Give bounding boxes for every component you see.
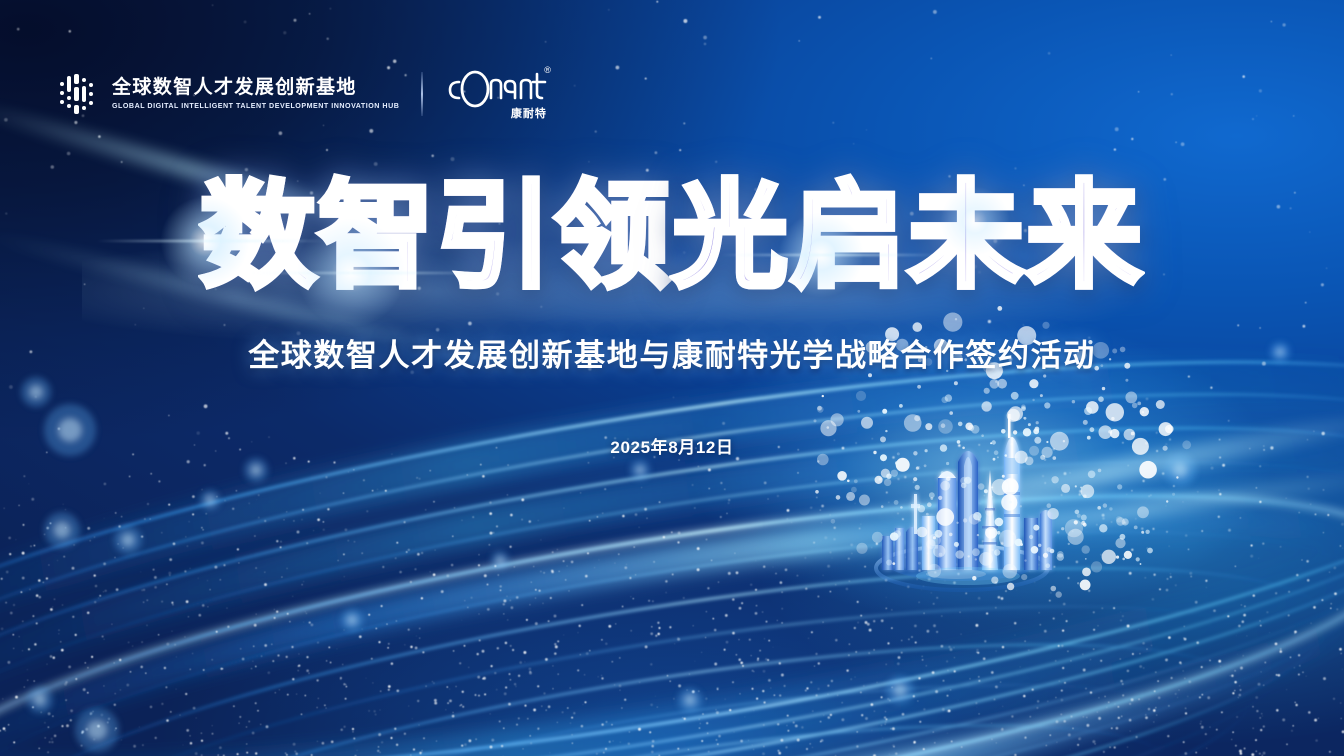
event-meta: 2025年8月12日 中国·深圳 [0,433,1344,458]
hub-name-en: GLOBAL DIGITAL INTELLIGENT TALENT DEVELO… [112,102,399,111]
hero-title-part2: 光启未来 [672,176,1144,298]
hero-subtitle: 全球数智人才发展创新基地与康耐特光学战略合作签约活动 [0,330,1344,375]
city-skyline-illustration [838,396,1088,596]
trademark-icon: ® [544,65,551,75]
logo-divider [421,72,423,116]
event-date: 2025年8月12日 [0,433,1344,458]
hero-title-block: 数智引领光启未来 [0,176,1344,298]
header-lockup: 全球数智人才发展创新基地 GLOBAL DIGITAL INTELLIGENT … [60,68,549,120]
conant-wordmark [445,68,549,108]
hero-title-part1: 数智引领 [200,176,672,298]
city-svg [838,396,1088,596]
conant-logo: ® 康耐特 [445,68,549,120]
conant-name-cn: 康耐特 [511,105,547,121]
hub-logo-text: 全球数智人才发展创新基地 GLOBAL DIGITAL INTELLIGENT … [112,77,399,110]
hub-name-cn: 全球数智人才发展创新基地 [112,77,399,99]
poster-canvas: 全球数智人才发展创新基地 GLOBAL DIGITAL INTELLIGENT … [0,0,1344,756]
data-dots-icon [60,74,94,114]
